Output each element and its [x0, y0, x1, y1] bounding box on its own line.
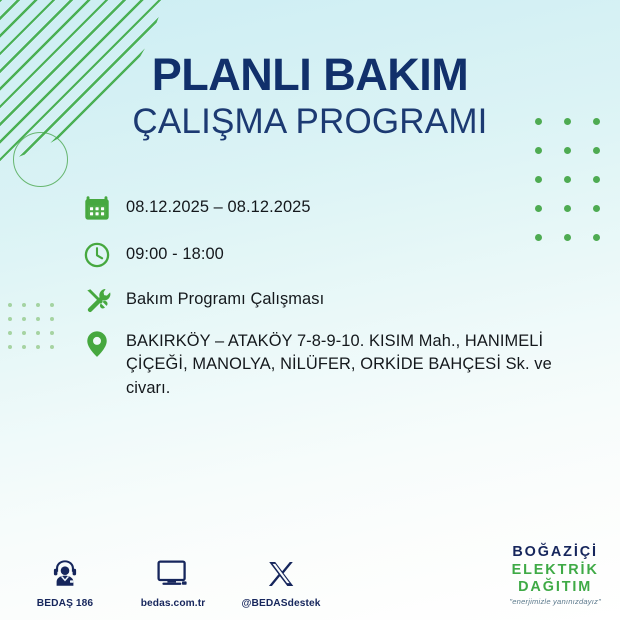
contact-website-label: bedas.com.tr [141, 598, 206, 609]
map-pin-icon [84, 329, 116, 359]
logo-line-elektrik: ELEKTRİK [509, 563, 601, 577]
headset-support-icon [24, 554, 106, 588]
maintenance-time-range: 09:00 - 18:00 [116, 240, 224, 266]
tools-icon [84, 285, 116, 315]
contact-phone-label: BEDAŞ 186 [37, 598, 93, 609]
page-subtitle: ÇALIŞMA PROGRAMI [0, 102, 620, 141]
contact-social-label: @BEDASdestek [241, 598, 320, 609]
detail-row-date: 08.12.2025 – 08.12.2025 [84, 193, 584, 223]
contact-phone[interactable]: BEDAŞ 186 [24, 554, 106, 611]
x-twitter-icon [240, 554, 322, 588]
poster-footer: BEDAŞ 186 bedas.com.tr [0, 528, 620, 620]
contact-channels: BEDAŞ 186 bedas.com.tr [24, 554, 322, 611]
maintenance-work-type: Bakım Programı Çalışması [116, 285, 324, 311]
logo-line-bogazici: BOĞAZİÇİ [509, 545, 601, 559]
maintenance-location: BAKIRKÖY – ATAKÖY 7-8-9-10. KISIM Mah., … [116, 329, 584, 400]
maintenance-details: 08.12.2025 – 08.12.2025 09:00 - 18:00 [84, 193, 584, 414]
page-title: PLANLI BAKIM [0, 52, 620, 99]
detail-row-time: 09:00 - 18:00 [84, 240, 584, 270]
logo-line-dagitim: DAĞITIM [509, 580, 601, 594]
detail-row-location: BAKIRKÖY – ATAKÖY 7-8-9-10. KISIM Mah., … [84, 329, 584, 400]
clock-icon [84, 240, 116, 270]
dot-grid-left-decoration [8, 303, 64, 359]
poster-header: PLANLI BAKIM ÇALIŞMA PROGRAMI [0, 52, 620, 141]
logo-tagline: "enerjimizle yanınızdayız" [509, 598, 601, 606]
maintenance-date-range: 08.12.2025 – 08.12.2025 [116, 193, 311, 219]
detail-row-work-type: Bakım Programı Çalışması [84, 285, 584, 315]
contact-website[interactable]: bedas.com.tr [132, 554, 214, 611]
calendar-icon [84, 193, 116, 223]
bedas-logo: BOĞAZİÇİ ELEKTRİK DAĞITIM "enerjimizle y… [509, 545, 601, 606]
monitor-icon [132, 554, 214, 588]
contact-social[interactable]: @BEDASdestek [240, 554, 322, 611]
planned-maintenance-poster: PLANLI BAKIM ÇALIŞMA PROGRAMI [0, 0, 620, 620]
